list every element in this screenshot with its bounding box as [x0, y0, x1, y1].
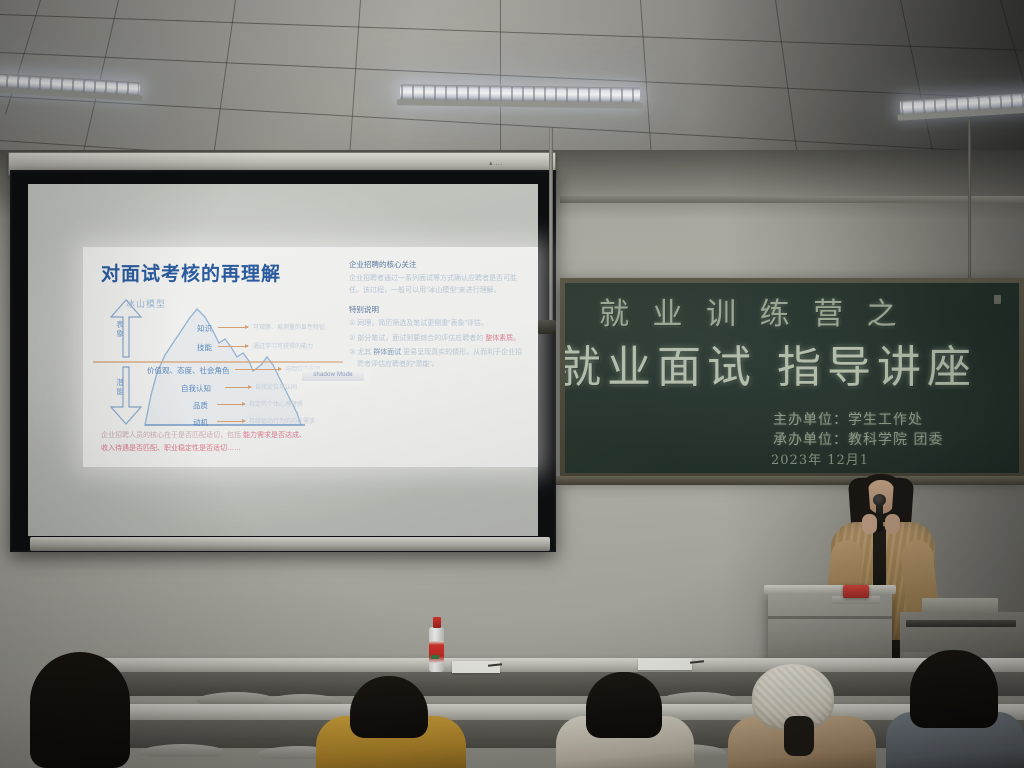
list-item [12, 652, 152, 768]
list-item [316, 676, 466, 768]
iceberg-label-values: 价值观、态度、社会角色 [147, 365, 230, 376]
iceberg-label-knowledge: 知识 [197, 323, 212, 334]
rcol-item-1-num: ① [349, 320, 355, 327]
rcol-paragraph: 企业招聘者通过一系列面试等方式确认应聘者是否可胜任。该过程，一般可以用“冰山模型… [349, 273, 527, 296]
rcol-item-3-bold: 群体面试 [373, 349, 401, 356]
paper-2 [638, 658, 692, 670]
list-item [728, 664, 876, 768]
iceberg-desc-skill: 通过学习可获得的能力 [253, 341, 313, 350]
iceberg-svg [93, 295, 343, 430]
screen-surface: 对面试考核的再理解 冰山模型 表象 [28, 184, 538, 536]
rcol-item-2-text: 部分笔试，面试则要综合的评估应聘者的 [357, 335, 483, 342]
slide-footer: 企业招聘人员的核心在于是否匹配适切，包括 能力需求是否达成、 收入待遇是否匹配、… [101, 429, 521, 456]
slide-content: 对面试考核的再理解 冰山模型 表象 [83, 247, 538, 467]
bottle-cap [433, 617, 441, 628]
rcol-item-2: ② 部分笔试，面试则要综合的评估应聘者的 整体素质。 [349, 333, 527, 345]
iceberg-caption: 冰山模型 [126, 297, 166, 310]
student-4-hair [784, 716, 814, 756]
rcol-item-3: ③ 尤其 群体面试 更易呈现真实的情形，从而利于企业招聘者评估应聘者的“潜能”。 [349, 347, 527, 370]
list-item [886, 650, 1024, 768]
list-item [556, 672, 694, 768]
speaker-hand-right [885, 514, 900, 534]
iceberg-potential-label: 潜能 [113, 379, 127, 396]
slide-title: 对面试考核的再理解 [101, 259, 281, 286]
hanging-pole-left [549, 128, 553, 328]
av-console [900, 612, 1024, 652]
student-5-hair [910, 650, 998, 728]
wall-rail [560, 196, 1024, 203]
blackboard: 就 业 训 练 营 之 就业面试 指导讲座 主办单位：学生工作处 承办单位：教科… [565, 283, 1019, 473]
footer-1-plain: 企业招聘人员的核心在于是否匹配适切，包括 [101, 432, 241, 439]
rcol-subheading: 特别说明 [349, 304, 527, 315]
blackboard-clip [994, 295, 1001, 304]
hanging-pole-right [968, 118, 971, 286]
screen-brand-logo: ▴ ... [489, 159, 511, 167]
microphone-icon [873, 494, 886, 506]
iceberg-label-skill: 技能 [197, 342, 212, 353]
blackboard-frame: 就 业 训 练 营 之 就业面试 指导讲座 主办单位：学生工作处 承办单位：教科… [560, 278, 1024, 478]
speaker-hand-left [862, 514, 877, 534]
blackboard-line-2: 就业面试 指导讲座 [565, 331, 977, 395]
iceberg-label-selfconcept: 自我认知 [181, 383, 211, 394]
desk-row-1-top [88, 658, 1024, 672]
rcol-item-2-num: ② [349, 335, 355, 342]
iceberg-desc-trait: 稳定的个体心理特质 [249, 399, 303, 408]
shadow-mode-tooltip: shadow Mode [302, 370, 364, 381]
desk-row-2-top [60, 704, 1024, 720]
shadow-mode-tooltip-label: shadow Mode [302, 372, 364, 378]
rcol-heading: 企业招聘的核心关注 [349, 259, 527, 270]
iceberg-desc-selfconcept: 自我定位与认同 [255, 382, 297, 391]
water-bottle [429, 617, 444, 672]
rcol-item-1: ① 同理，简历筛选及笔试更侧重“表象”评估。 [349, 318, 527, 330]
blackboard-chalk-tray [556, 476, 1024, 485]
red-book [843, 585, 869, 598]
rcol-item-3-text-a: 尤其 [357, 349, 371, 356]
student-3-hair [586, 672, 662, 738]
iceberg-desc-motive: 持续驱动行为的内在需求 [249, 416, 315, 425]
blackboard-line-4: 承办单位：教科学院 团委 [773, 429, 943, 449]
slide-footer-line-2: 收入待遇是否匹配、职业稳定性是否适切…… [101, 442, 521, 455]
slide-right-column: 企业招聘的核心关注 企业招聘者通过一系列面试等方式确认应聘者是否可胜任。该过程，… [349, 259, 527, 373]
iceberg-diagram: 冰山模型 表象 潜能 知识 可观察、易测量的显性特征 技能 通过学习可获得的能力… [93, 295, 343, 430]
rcol-list: ① 同理，简历筛选及笔试更侧重“表象”评估。 ② 部分笔试，面试则要综合的评估应… [349, 318, 527, 370]
rcol-item-2-highlight: 整体素质。 [485, 335, 520, 342]
seat-2a [140, 744, 226, 757]
iceberg-surface-label: 表象 [113, 321, 127, 338]
desk-row-2-face [60, 720, 1024, 748]
blackboard-line-1: 就 业 训 练 营 之 [599, 289, 904, 333]
student-2-hair [350, 676, 428, 738]
rcol-item-3-num: ③ [349, 349, 355, 356]
blackboard-line-3: 主办单位：学生工作处 [773, 409, 923, 429]
projection-screen: 对面试考核的再理解 冰山模型 表象 [10, 170, 556, 552]
rcol-item-1-text: 同理，简历筛选及笔试更侧重“表象”评估。 [357, 320, 488, 327]
student-1-hair [30, 652, 130, 768]
ceiling-light-2 [400, 84, 640, 103]
slide-footer-line-1: 企业招聘人员的核心在于是否匹配适切，包括 能力需求是否达成、 [101, 429, 521, 442]
paper-1 [452, 661, 500, 673]
lecture-hall-photo: ▴ ... 对面试考核的再理解 [0, 0, 1024, 768]
iceberg-label-trait: 品质 [193, 400, 208, 411]
footer-1-emphasis: 能力需求是否达成、 [243, 432, 306, 439]
screen-bottom-weight-bar [30, 537, 550, 551]
hanging-pole-left-bracket [538, 320, 556, 334]
iceberg-desc-knowledge: 可观察、易测量的显性特征 [253, 322, 325, 331]
iceberg-label-motive: 动机 [193, 417, 208, 428]
